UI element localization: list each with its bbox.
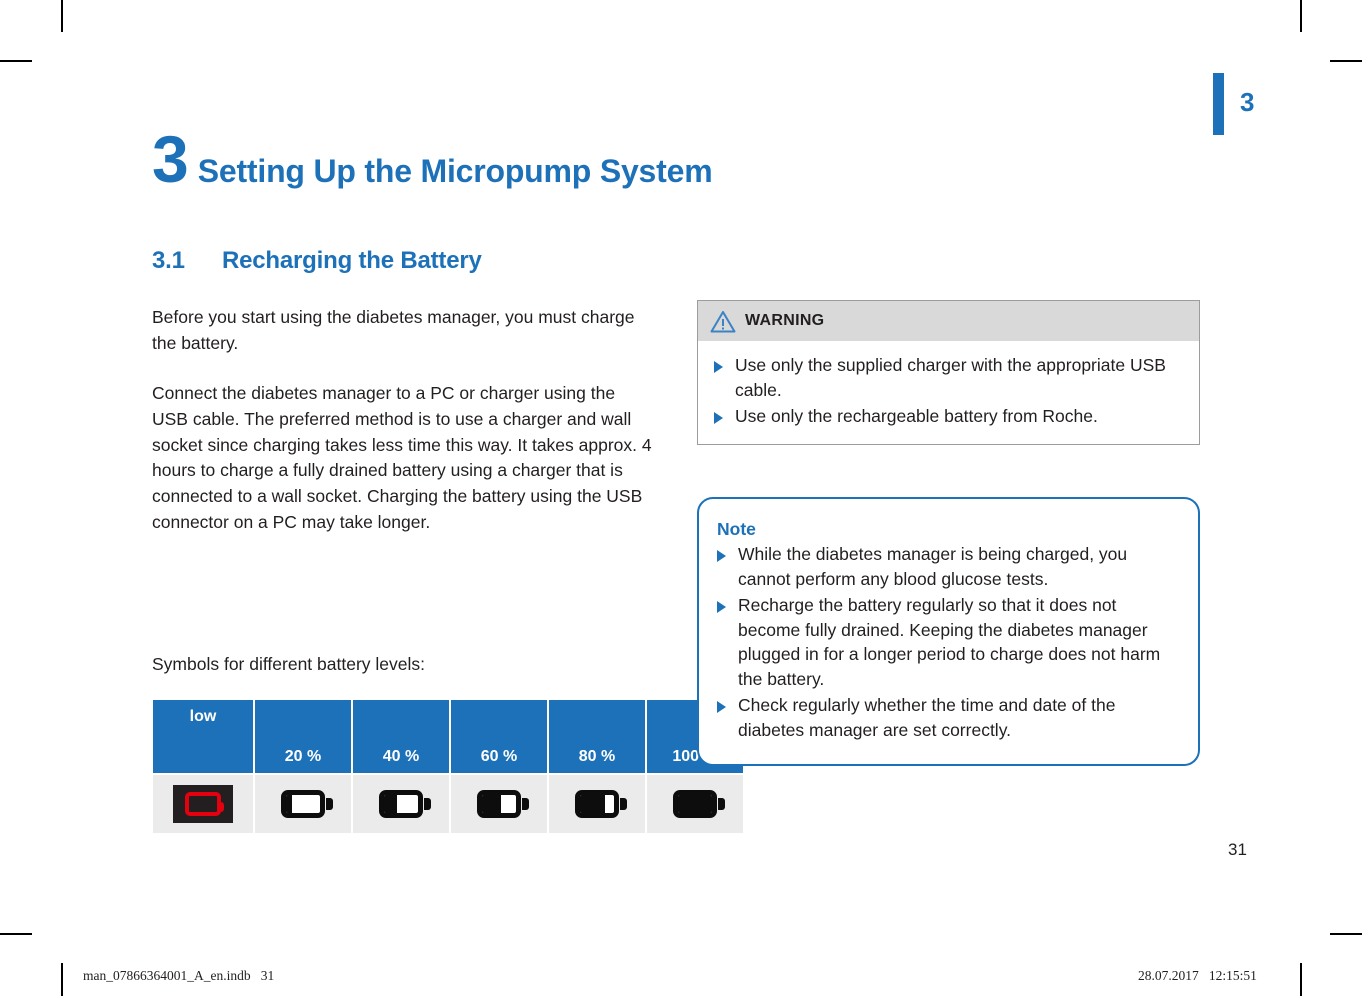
battery-table-header-row: low 20 % 40 % 60 % 80 % 100 %: [153, 700, 743, 773]
warning-list-item: Use only the supplied charger with the a…: [710, 353, 1185, 403]
battery-20-icon: [281, 790, 325, 818]
body-paragraph-2: Connect the diabetes manager to a PC or …: [152, 381, 652, 536]
battery-80-icon: [575, 790, 619, 818]
page-number: 31: [1228, 840, 1247, 860]
battery-low-icon: [154, 785, 252, 823]
section-heading-text: Recharging the Battery: [222, 247, 482, 275]
crop-mark-bottom-left-horizontal: [0, 933, 32, 935]
battery-cell-20: [255, 773, 353, 833]
warning-triangle-icon: [710, 310, 736, 333]
chapter-title-text: Setting Up the Micropump System: [198, 153, 713, 190]
note-list-item: Check regularly whether the time and dat…: [713, 693, 1178, 743]
crop-mark-top-right-horizontal: [1330, 60, 1362, 62]
chapter-title: 3 Setting Up the Micropump System: [152, 130, 712, 190]
body-paragraph-1: Before you start using the diabetes mana…: [152, 305, 652, 357]
footer-file-name: man_07866364001_A_en.indb 31: [83, 968, 274, 984]
warning-box-body: Use only the supplied charger with the a…: [698, 341, 1199, 444]
battery-cell-low: [153, 773, 255, 833]
chapter-title-number: 3: [152, 130, 188, 189]
warning-list-item: Use only the rechargeable battery from R…: [710, 404, 1185, 429]
section-heading-number: 3.1: [152, 247, 222, 275]
warning-title: WARNING: [745, 312, 824, 330]
battery-header-80: 80 %: [549, 700, 647, 773]
battery-header-60: 60 %: [451, 700, 549, 773]
crop-mark-top-right-vertical: [1300, 0, 1302, 32]
crop-mark-bottom-right-vertical: [1300, 963, 1302, 996]
battery-table-symbol-row: [153, 773, 743, 833]
battery-symbols-label: Symbols for different battery levels:: [152, 652, 662, 678]
battery-cell-80: [549, 773, 647, 833]
note-list: While the diabetes manager is being char…: [713, 542, 1178, 743]
crop-mark-top-left-vertical: [61, 0, 63, 32]
crop-mark-top-left-horizontal: [0, 60, 32, 62]
battery-header-low: low: [153, 700, 255, 773]
warning-box-header: WARNING: [698, 301, 1199, 341]
note-box: Note While the diabetes manager is being…: [697, 497, 1200, 766]
chapter-marker-bar: [1213, 73, 1224, 135]
crop-mark-bottom-left-vertical: [61, 963, 63, 996]
battery-levels-table: low 20 % 40 % 60 % 80 % 100 %: [153, 700, 743, 833]
section-heading: 3.1 Recharging the Battery: [152, 247, 482, 275]
note-list-item: Recharge the battery regularly so that i…: [713, 593, 1178, 692]
battery-header-20: 20 %: [255, 700, 353, 773]
battery-100-icon: [673, 790, 717, 818]
note-list-item: While the diabetes manager is being char…: [713, 542, 1178, 592]
battery-cell-100: [647, 773, 743, 833]
crop-mark-bottom-right-horizontal: [1330, 933, 1362, 935]
chapter-marker-number: 3: [1240, 89, 1254, 115]
battery-cell-40: [353, 773, 451, 833]
battery-40-icon: [379, 790, 423, 818]
note-title: Note: [713, 519, 1178, 540]
body-text-column: Before you start using the diabetes mana…: [152, 305, 652, 560]
battery-cell-60: [451, 773, 549, 833]
battery-header-40: 40 %: [353, 700, 451, 773]
battery-60-icon: [477, 790, 521, 818]
warning-list: Use only the supplied charger with the a…: [710, 353, 1185, 429]
warning-box: WARNING Use only the supplied charger wi…: [697, 300, 1200, 445]
footer-timestamp: 28.07.2017 12:15:51: [1138, 968, 1257, 984]
